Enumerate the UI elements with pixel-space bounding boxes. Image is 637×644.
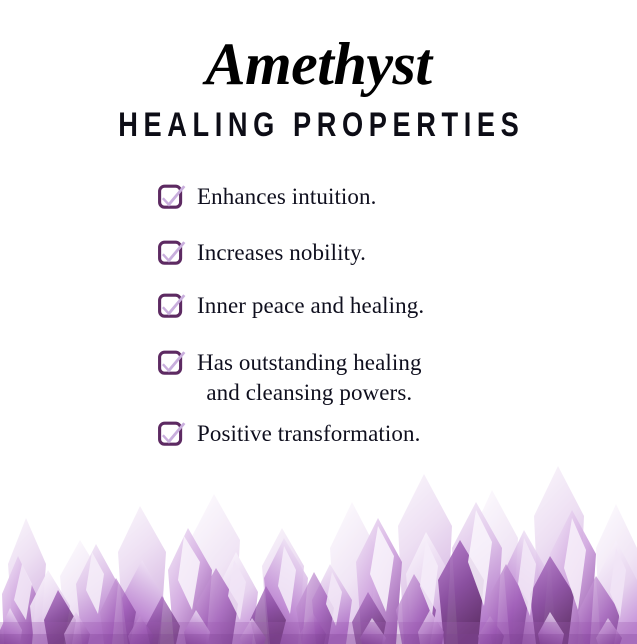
list-item-label: Positive transformation. bbox=[182, 419, 420, 450]
list-item-label: Increases nobility. bbox=[182, 238, 366, 269]
list-item: Inner peace and healing. bbox=[0, 291, 637, 322]
checkbox-checked-icon bbox=[158, 423, 182, 447]
list-item: Has outstanding healing and cleansing po… bbox=[0, 348, 637, 409]
poster-header: Amethyst HEALING PROPERTIES bbox=[0, 0, 637, 142]
list-item: Enhances intuition. bbox=[0, 182, 637, 213]
amethyst-crystal-cluster-image bbox=[0, 444, 637, 644]
checkbox-checked-icon bbox=[158, 295, 182, 319]
healing-properties-list: Enhances intuition. Increases nobility. … bbox=[0, 182, 637, 449]
list-item-label: Has outstanding healing and cleansing po… bbox=[182, 348, 422, 409]
checkbox-checked-icon bbox=[158, 186, 182, 210]
list-item-label: Enhances intuition. bbox=[182, 182, 376, 213]
page-title: Amethyst bbox=[0, 34, 637, 94]
list-item-label: Inner peace and healing. bbox=[182, 291, 424, 322]
list-item: Positive transformation. bbox=[0, 419, 637, 450]
checkbox-checked-icon bbox=[158, 242, 182, 266]
list-item: Increases nobility. bbox=[0, 238, 637, 269]
amethyst-healing-properties-poster: Amethyst HEALING PROPERTIES Enhances int… bbox=[0, 0, 637, 644]
checkbox-checked-icon bbox=[158, 352, 182, 376]
page-subtitle: HEALING PROPERTIES bbox=[64, 94, 574, 142]
